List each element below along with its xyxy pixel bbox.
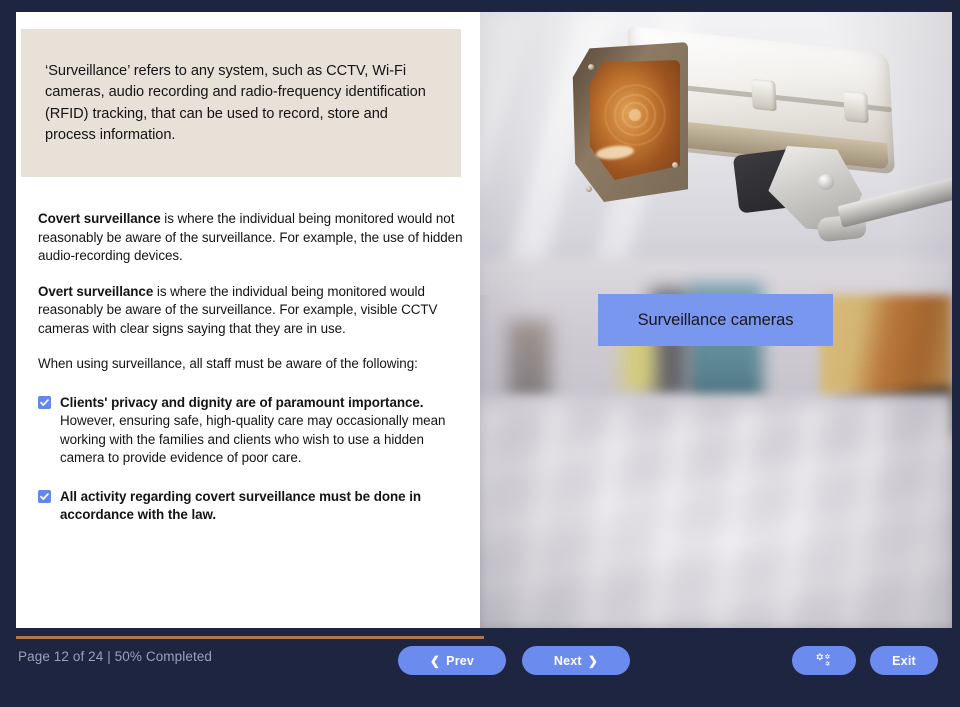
- next-button[interactable]: Next ❯: [522, 646, 630, 675]
- photo-caption: Surveillance cameras: [598, 294, 833, 346]
- gears-icon: [814, 652, 834, 669]
- prev-button[interactable]: ❮ Prev: [398, 646, 506, 675]
- checklist-item: Clients' privacy and dignity are of para…: [38, 394, 468, 468]
- progress-bar-fill: [16, 636, 484, 639]
- checkbox-checked-icon: [38, 396, 51, 409]
- definition-callout-text: ‘Surveillance’ refers to any system, suc…: [45, 61, 437, 147]
- progress-bar-track: [16, 636, 952, 639]
- paragraph-covert: Covert surveillance is where the individ…: [38, 210, 468, 266]
- utility-buttons-group: Exit: [792, 646, 938, 675]
- chevron-left-icon: ❮: [430, 655, 440, 667]
- paragraph-overt-lead: Overt surveillance: [38, 284, 153, 299]
- page-navigation-group: ❮ Prev Next ❯: [398, 646, 630, 675]
- bottom-navigation-bar: Page 12 of 24 | 50% Completed ❮ Prev Nex…: [0, 628, 960, 707]
- exit-button[interactable]: Exit: [870, 646, 938, 675]
- surveillance-photo: Surveillance cameras: [480, 12, 952, 628]
- prev-button-label: Prev: [446, 654, 474, 668]
- checklist-item-bold: Clients' privacy and dignity are of para…: [60, 395, 423, 410]
- photo-caption-text: Surveillance cameras: [638, 311, 794, 330]
- exit-button-label: Exit: [892, 654, 916, 668]
- checklist-intro: When using surveillance, all staff must …: [38, 355, 468, 374]
- definition-callout: ‘Surveillance’ refers to any system, suc…: [21, 29, 461, 177]
- checklist-item-bold: All activity regarding covert surveillan…: [60, 489, 421, 523]
- paragraph-overt: Overt surveillance is where the individu…: [38, 283, 468, 339]
- text-column: ‘Surveillance’ refers to any system, suc…: [16, 12, 480, 628]
- checklist-item: All activity regarding covert surveillan…: [38, 488, 468, 525]
- chevron-right-icon: ❯: [588, 655, 598, 667]
- checkbox-checked-icon: [38, 490, 51, 503]
- app-frame: ‘Surveillance’ refers to any system, suc…: [0, 0, 960, 707]
- page-progress-label: Page 12 of 24 | 50% Completed: [18, 649, 212, 664]
- paragraph-covert-lead: Covert surveillance: [38, 211, 161, 226]
- settings-button[interactable]: [792, 646, 856, 675]
- next-button-label: Next: [554, 654, 582, 668]
- checklist-item-rest: However, ensuring safe, high-quality car…: [60, 413, 445, 465]
- slide-content-area: ‘Surveillance’ refers to any system, suc…: [16, 12, 952, 628]
- body-text-blocks: Covert surveillance is where the individ…: [38, 210, 468, 545]
